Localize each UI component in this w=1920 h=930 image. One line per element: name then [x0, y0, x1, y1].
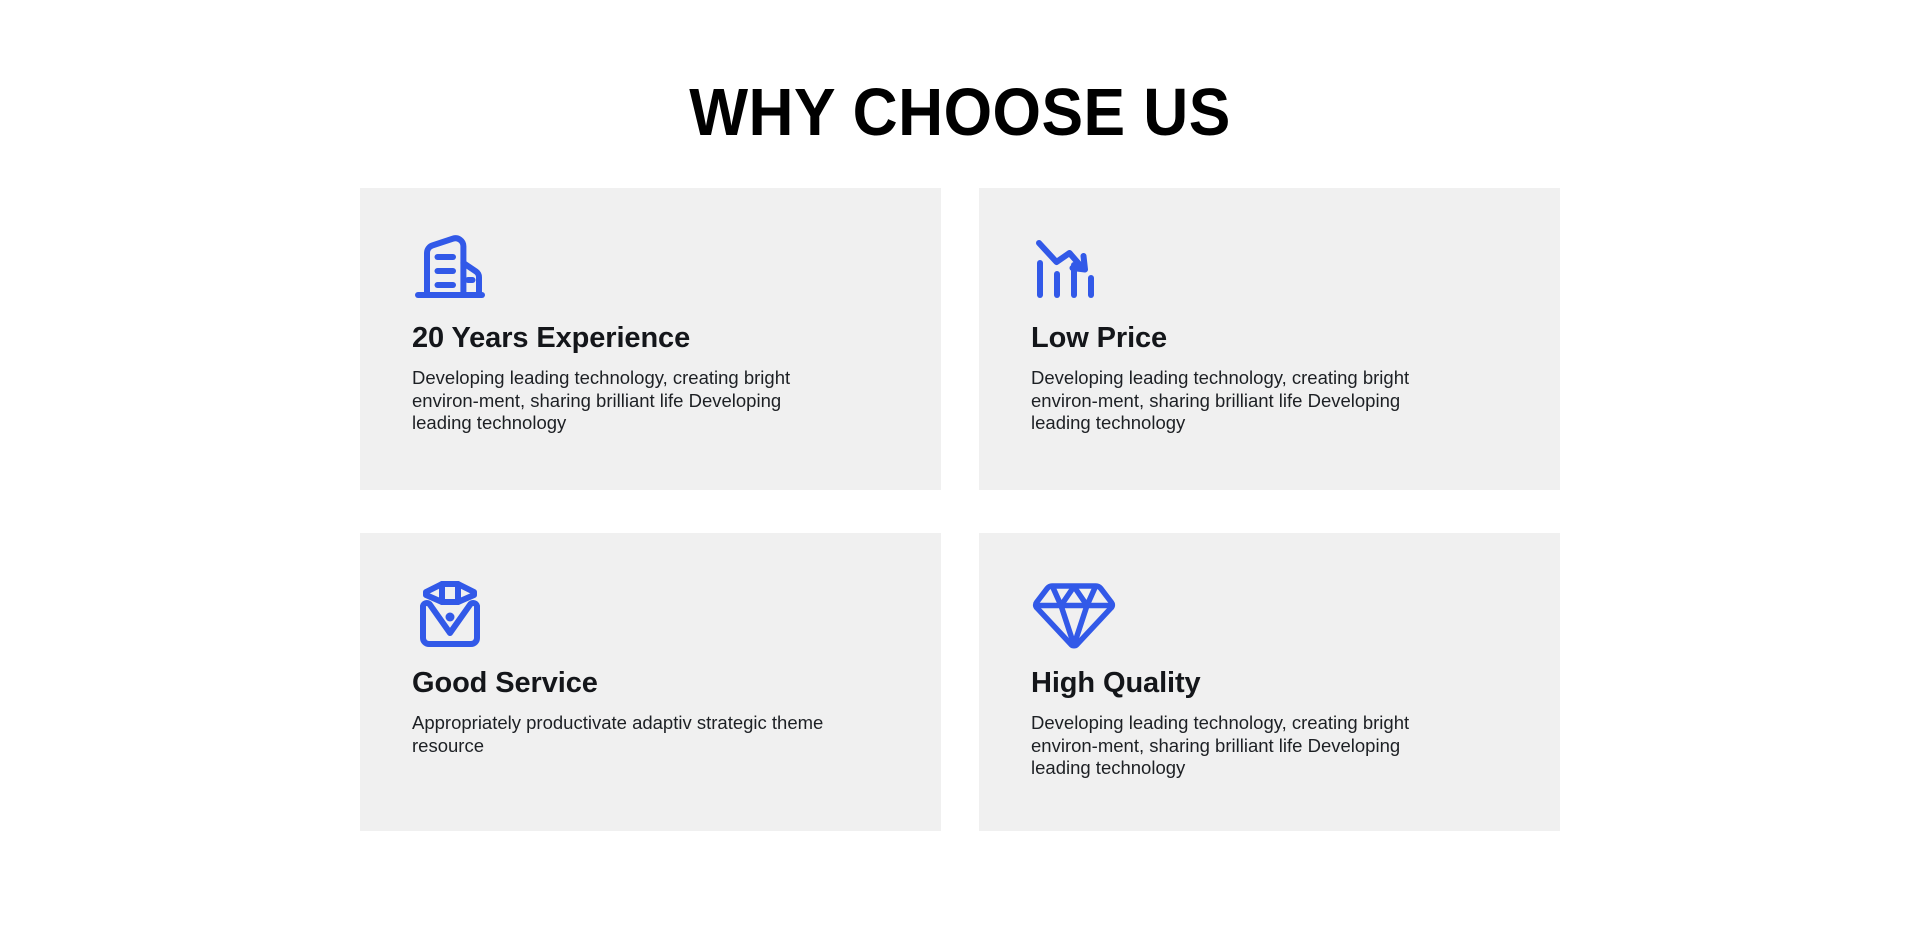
tuxedo-bowtie-icon — [412, 578, 889, 646]
feature-card-20-years-experience[interactable]: 20 Years Experience Developing leading t… — [360, 188, 941, 490]
diamond-gem-icon — [1031, 578, 1508, 646]
office-building-icon — [412, 233, 889, 301]
feature-card-good-service[interactable]: Good Service Appropriately productivate … — [360, 533, 941, 831]
card-title: Low Price — [1031, 321, 1508, 355]
feature-card-high-quality[interactable]: High Quality Developing leading technolo… — [979, 533, 1560, 831]
card-description: Developing leading technology, creating … — [412, 367, 828, 435]
card-description: Developing leading technology, creating … — [1031, 367, 1447, 435]
page-title: WHY CHOOSE US — [67, 78, 1853, 148]
feature-cards-grid: 20 Years Experience Developing leading t… — [360, 188, 1560, 831]
feature-card-low-price[interactable]: Low Price Developing leading technology,… — [979, 188, 1560, 490]
why-choose-us-section: WHY CHOOSE US 20 Years Experience Develo… — [0, 0, 1920, 930]
declining-bar-chart-icon — [1031, 233, 1508, 301]
card-description: Developing leading technology, creating … — [1031, 712, 1447, 780]
card-title: High Quality — [1031, 666, 1508, 700]
card-description: Appropriately productivate adaptiv strat… — [412, 712, 828, 757]
card-title: 20 Years Experience — [412, 321, 889, 355]
card-title: Good Service — [412, 666, 889, 700]
